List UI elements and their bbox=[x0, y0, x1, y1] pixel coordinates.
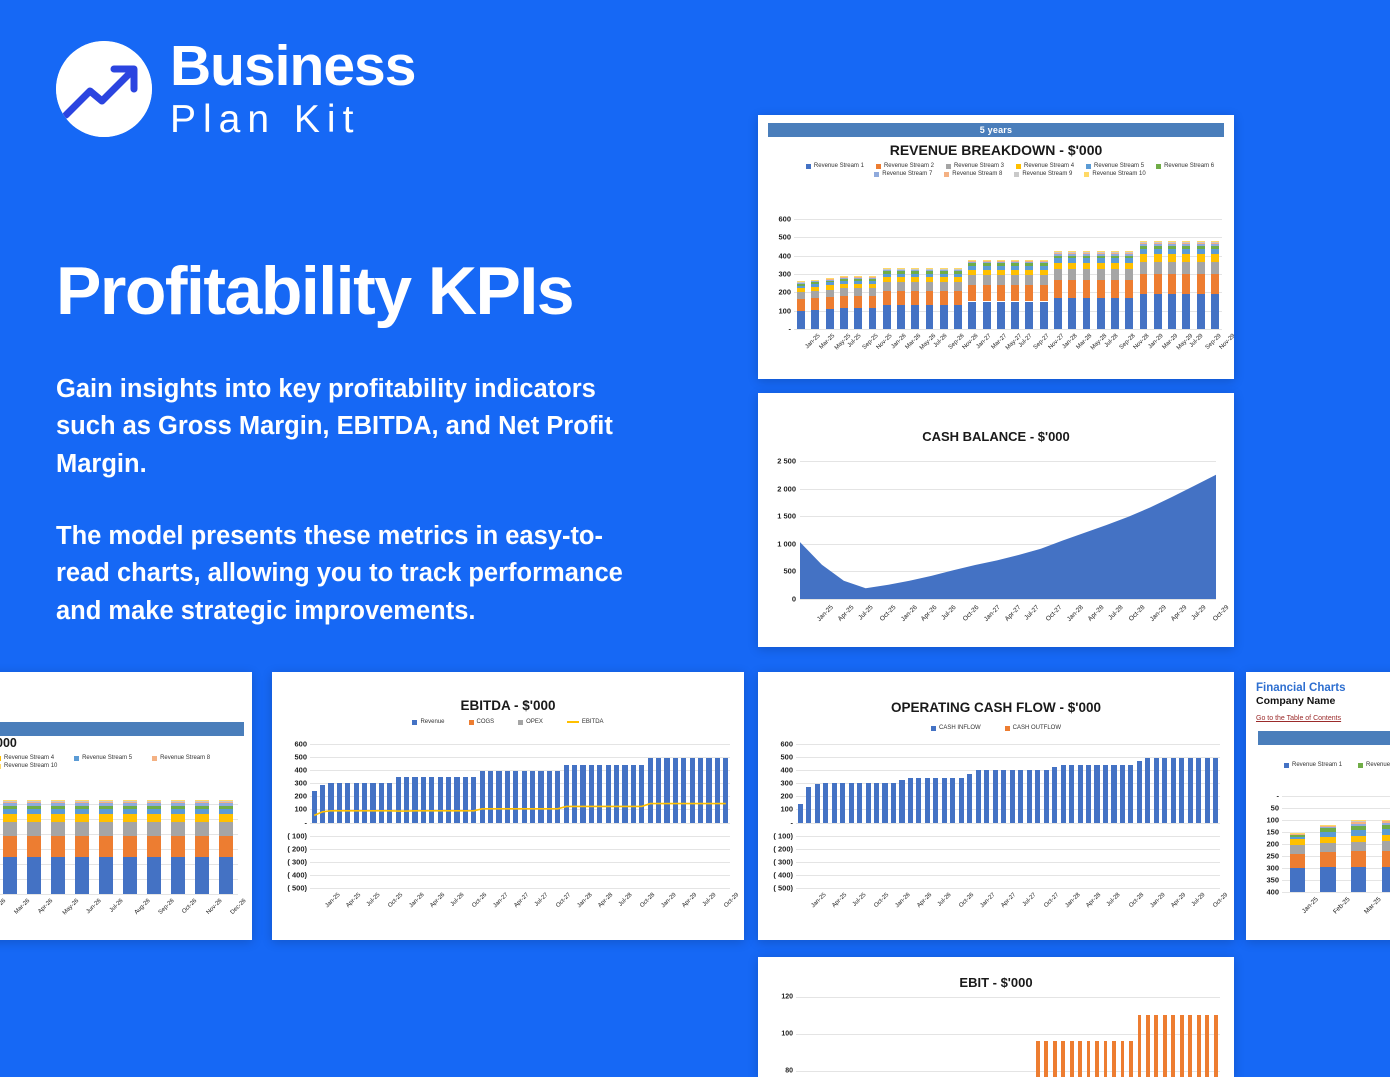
bar-segment[interactable] bbox=[826, 278, 834, 279]
bar-segment[interactable] bbox=[328, 783, 333, 822]
bar-segment[interactable] bbox=[1125, 254, 1133, 256]
bar-segment[interactable] bbox=[1025, 260, 1033, 261]
bar-segment[interactable] bbox=[147, 809, 160, 814]
legend-item[interactable]: Revenue Stream 1 bbox=[1284, 762, 1342, 768]
bar-segment[interactable] bbox=[840, 296, 848, 308]
bar-segment[interactable] bbox=[1205, 758, 1210, 822]
bar-segment[interactable] bbox=[1154, 241, 1162, 242]
bar-segment[interactable] bbox=[1011, 270, 1019, 276]
bar-segment[interactable] bbox=[631, 765, 636, 823]
bar-segment[interactable] bbox=[940, 269, 948, 270]
bar[interactable] bbox=[1129, 1041, 1133, 1077]
bar-segment[interactable] bbox=[911, 305, 919, 329]
bar-segment[interactable] bbox=[1040, 275, 1048, 285]
bar-segment[interactable] bbox=[984, 770, 989, 822]
bar-segment[interactable] bbox=[1010, 770, 1015, 822]
bar-segment[interactable] bbox=[1025, 260, 1033, 261]
bar-segment[interactable] bbox=[639, 765, 644, 823]
bar-segment[interactable] bbox=[1083, 254, 1091, 256]
bar-segment[interactable] bbox=[983, 302, 991, 330]
panel-operating-cash-flow[interactable]: OPERATING CASH FLOW - $'000 CASH INFLOWC… bbox=[758, 672, 1234, 940]
bar-segment[interactable] bbox=[75, 802, 88, 803]
bar-segment[interactable] bbox=[1011, 266, 1019, 270]
bar-segment[interactable] bbox=[908, 778, 913, 823]
bar-segment[interactable] bbox=[1025, 261, 1033, 262]
bar-segment[interactable] bbox=[1054, 258, 1062, 262]
bar-segment[interactable] bbox=[1211, 242, 1219, 243]
bar-segment[interactable] bbox=[715, 758, 720, 822]
bar-segment[interactable] bbox=[123, 803, 136, 805]
bar-segment[interactable] bbox=[1068, 253, 1076, 254]
bar-segment[interactable] bbox=[123, 836, 136, 858]
bar-segment[interactable] bbox=[123, 857, 136, 894]
bar-segment[interactable] bbox=[1011, 260, 1019, 261]
legend-item[interactable]: Revenue Stream 4 bbox=[0, 755, 54, 761]
bar-segment[interactable] bbox=[897, 268, 905, 269]
bar-segment[interactable] bbox=[925, 778, 930, 823]
bar-segment[interactable] bbox=[1154, 242, 1162, 243]
bar-segment[interactable] bbox=[811, 284, 819, 287]
bar-segment[interactable] bbox=[1154, 254, 1162, 261]
bar-segment[interactable] bbox=[1083, 269, 1091, 280]
bar-segment[interactable] bbox=[968, 263, 976, 265]
bar-segment[interactable] bbox=[797, 282, 805, 283]
bar-segment[interactable] bbox=[1040, 261, 1048, 262]
bar-segment[interactable] bbox=[983, 260, 991, 261]
bar-segment[interactable] bbox=[1140, 246, 1148, 249]
legend-item[interactable]: Revenue Stream 4 bbox=[1016, 163, 1074, 169]
bar-segment[interactable] bbox=[1125, 256, 1133, 259]
bar-segment[interactable] bbox=[811, 287, 819, 291]
bar-segment[interactable] bbox=[171, 836, 184, 858]
bar-segment[interactable] bbox=[538, 771, 543, 823]
bar-segment[interactable] bbox=[983, 261, 991, 262]
bar-segment[interactable] bbox=[379, 783, 384, 822]
bar-segment[interactable] bbox=[1320, 843, 1335, 853]
bar-segment[interactable] bbox=[840, 279, 848, 281]
bar-segment[interactable] bbox=[976, 770, 981, 822]
bar-segment[interactable] bbox=[840, 276, 848, 277]
bar[interactable] bbox=[1112, 1041, 1116, 1077]
bar-segment[interactable] bbox=[123, 809, 136, 814]
bar[interactable] bbox=[1121, 1041, 1125, 1077]
bar-segment[interactable] bbox=[1054, 251, 1062, 252]
bar-segment[interactable] bbox=[1290, 845, 1305, 854]
bar[interactable] bbox=[1205, 1015, 1209, 1077]
bar-segment[interactable] bbox=[1382, 823, 1390, 825]
bar-segment[interactable] bbox=[968, 270, 976, 276]
bar-segment[interactable] bbox=[505, 771, 510, 823]
bar-segment[interactable] bbox=[195, 814, 208, 822]
bar-segment[interactable] bbox=[99, 814, 112, 822]
bar-segment[interactable] bbox=[1078, 765, 1083, 823]
bar-segment[interactable] bbox=[897, 270, 905, 271]
bar-segment[interactable] bbox=[1182, 294, 1190, 329]
bar-segment[interactable] bbox=[926, 277, 934, 282]
bar-segment[interactable] bbox=[826, 279, 834, 280]
bar-segment[interactable] bbox=[1068, 256, 1076, 259]
bar[interactable] bbox=[1095, 1041, 1099, 1077]
bar-segment[interactable] bbox=[926, 269, 934, 270]
bar-segment[interactable] bbox=[75, 806, 88, 809]
bar-segment[interactable] bbox=[51, 801, 64, 802]
bar-segment[interactable] bbox=[954, 282, 962, 291]
bar-segment[interactable] bbox=[1111, 252, 1119, 253]
bar-segment[interactable] bbox=[797, 284, 805, 286]
bar-segment[interactable] bbox=[869, 296, 877, 308]
bar[interactable] bbox=[1171, 1015, 1175, 1077]
bar-segment[interactable] bbox=[27, 809, 40, 814]
bar-segment[interactable] bbox=[3, 809, 16, 814]
bar-segment[interactable] bbox=[51, 809, 64, 814]
bar-segment[interactable] bbox=[1211, 246, 1219, 249]
bar-segment[interactable] bbox=[75, 809, 88, 814]
bar-segment[interactable] bbox=[147, 857, 160, 894]
panel-revenue-breakdown-24m[interactable]: 24 months REAKDOWN - $'000 Revenue Strea… bbox=[0, 672, 252, 940]
bar-segment[interactable] bbox=[1140, 241, 1148, 242]
bar-segment[interactable] bbox=[171, 814, 184, 822]
bar-segment[interactable] bbox=[954, 269, 962, 270]
bar-segment[interactable] bbox=[1197, 246, 1205, 249]
bar-segment[interactable] bbox=[983, 262, 991, 264]
bar-segment[interactable] bbox=[897, 269, 905, 270]
bar-segment[interactable] bbox=[883, 282, 891, 291]
bar-segment[interactable] bbox=[387, 783, 392, 822]
bar-segment[interactable] bbox=[1197, 294, 1205, 329]
bar-segment[interactable] bbox=[811, 282, 819, 284]
bar-segment[interactable] bbox=[954, 291, 962, 305]
bar-segment[interactable] bbox=[1197, 262, 1205, 274]
bar-segment[interactable] bbox=[75, 836, 88, 858]
bar-segment[interactable] bbox=[1125, 280, 1133, 298]
bar-segment[interactable] bbox=[1094, 765, 1099, 823]
bar[interactable] bbox=[1214, 1015, 1218, 1077]
bar-segment[interactable] bbox=[815, 784, 820, 823]
bar-segment[interactable] bbox=[171, 801, 184, 802]
bar-segment[interactable] bbox=[1351, 826, 1366, 830]
legend-item[interactable]: Revenue Stream 1 bbox=[806, 163, 864, 169]
bar-segment[interactable] bbox=[940, 270, 948, 271]
bar-segment[interactable] bbox=[1097, 298, 1105, 329]
bar-segment[interactable] bbox=[1351, 867, 1366, 892]
bar-segment[interactable] bbox=[195, 802, 208, 803]
bar-segment[interactable] bbox=[1086, 765, 1091, 823]
bar-segment[interactable] bbox=[1052, 767, 1057, 823]
bar-segment[interactable] bbox=[1025, 262, 1033, 264]
bar-segment[interactable] bbox=[1097, 252, 1105, 253]
bar-segment[interactable] bbox=[883, 291, 891, 305]
bar-segment[interactable] bbox=[99, 800, 112, 801]
bar-segment[interactable] bbox=[883, 274, 891, 277]
bar-segment[interactable] bbox=[983, 270, 991, 276]
bar-segment[interactable] bbox=[1083, 256, 1091, 259]
bar-segment[interactable] bbox=[171, 802, 184, 803]
bar-segment[interactable] bbox=[1351, 821, 1366, 822]
bar-segment[interactable] bbox=[854, 281, 862, 284]
bar-segment[interactable] bbox=[648, 758, 653, 822]
bar-segment[interactable] bbox=[954, 268, 962, 269]
bar-segment[interactable] bbox=[1011, 302, 1019, 330]
bar-segment[interactable] bbox=[27, 803, 40, 805]
bar-segment[interactable] bbox=[51, 800, 64, 801]
bar-segment[interactable] bbox=[854, 277, 862, 278]
bar-segment[interactable] bbox=[496, 771, 501, 823]
bar-segment[interactable] bbox=[911, 269, 919, 270]
bar-segment[interactable] bbox=[1068, 269, 1076, 280]
bar-segment[interactable] bbox=[857, 783, 862, 823]
bar-segment[interactable] bbox=[1140, 274, 1148, 294]
bar-segment[interactable] bbox=[1211, 274, 1219, 294]
bar-segment[interactable] bbox=[883, 269, 891, 270]
bar-segment[interactable] bbox=[51, 822, 64, 836]
legend-item[interactable]: Revenue Stream 10 bbox=[0, 763, 57, 769]
bar-segment[interactable] bbox=[690, 758, 695, 822]
panel-ebit[interactable]: EBIT - $'000 12010080 bbox=[758, 957, 1234, 1077]
legend-item[interactable]: Revenue Stream 7 bbox=[874, 171, 932, 177]
bar-segment[interactable] bbox=[438, 777, 443, 823]
bar-segment[interactable] bbox=[950, 778, 955, 823]
bar-segment[interactable] bbox=[916, 778, 921, 823]
bar-segment[interactable] bbox=[1054, 280, 1062, 298]
bar-segment[interactable] bbox=[1154, 243, 1162, 244]
bar-segment[interactable] bbox=[1211, 243, 1219, 244]
legend-item[interactable]: CASH INFLOW bbox=[931, 725, 981, 731]
bar-segment[interactable] bbox=[869, 288, 877, 296]
bar-segment[interactable] bbox=[1025, 285, 1033, 301]
bar-segment[interactable] bbox=[1054, 269, 1062, 280]
bar-segment[interactable] bbox=[1154, 274, 1162, 294]
bar-segment[interactable] bbox=[840, 288, 848, 296]
bar-segment[interactable] bbox=[1125, 253, 1133, 254]
bar[interactable] bbox=[1154, 1015, 1158, 1077]
legend-item[interactable]: Revenue bbox=[412, 719, 444, 725]
bar-segment[interactable] bbox=[1025, 270, 1033, 276]
bar-segment[interactable] bbox=[27, 800, 40, 801]
bar-segment[interactable] bbox=[1351, 851, 1366, 866]
bar-segment[interactable] bbox=[1097, 280, 1105, 298]
bar-segment[interactable] bbox=[27, 806, 40, 809]
bar-segment[interactable] bbox=[219, 809, 232, 814]
bar-segment[interactable] bbox=[681, 758, 686, 822]
bar-segment[interactable] bbox=[1054, 256, 1062, 259]
bar-segment[interactable] bbox=[354, 783, 359, 822]
bar-segment[interactable] bbox=[589, 765, 594, 823]
bar-segment[interactable] bbox=[1011, 262, 1019, 264]
bar-segment[interactable] bbox=[854, 288, 862, 296]
bar-segment[interactable] bbox=[1040, 262, 1048, 264]
bar-segment[interactable] bbox=[51, 836, 64, 858]
bar-segment[interactable] bbox=[1125, 251, 1133, 252]
bar-segment[interactable] bbox=[1197, 244, 1205, 246]
bar-segment[interactable] bbox=[1168, 243, 1176, 244]
bar-segment[interactable] bbox=[854, 276, 862, 277]
bar-segment[interactable] bbox=[1083, 263, 1091, 270]
bar-segment[interactable] bbox=[897, 291, 905, 305]
bar-segment[interactable] bbox=[1027, 770, 1032, 822]
bar-segment[interactable] bbox=[99, 806, 112, 809]
bar-segment[interactable] bbox=[968, 302, 976, 330]
bar-segment[interactable] bbox=[99, 801, 112, 802]
bar-segment[interactable] bbox=[926, 270, 934, 271]
bar-segment[interactable] bbox=[171, 822, 184, 836]
bar-segment[interactable] bbox=[1068, 254, 1076, 256]
bar-segment[interactable] bbox=[840, 278, 848, 279]
bar-segment[interactable] bbox=[1382, 841, 1390, 851]
bar-segment[interactable] bbox=[926, 291, 934, 305]
bar-segment[interactable] bbox=[522, 771, 527, 823]
bar-segment[interactable] bbox=[75, 801, 88, 802]
bar-segment[interactable] bbox=[664, 758, 669, 822]
bar-segment[interactable] bbox=[1103, 765, 1108, 823]
bar-segment[interactable] bbox=[797, 286, 805, 289]
bar[interactable] bbox=[1138, 1015, 1142, 1077]
bar[interactable] bbox=[1146, 1015, 1150, 1077]
bar-segment[interactable] bbox=[580, 765, 585, 823]
bar-segment[interactable] bbox=[1083, 251, 1091, 252]
bar-segment[interactable] bbox=[869, 276, 877, 277]
bar-segment[interactable] bbox=[1054, 254, 1062, 256]
bar-segment[interactable] bbox=[1182, 274, 1190, 294]
bar-segment[interactable] bbox=[75, 803, 88, 805]
bar-segment[interactable] bbox=[3, 801, 16, 802]
bar-segment[interactable] bbox=[1351, 822, 1366, 824]
bar[interactable] bbox=[1036, 1041, 1040, 1077]
bar-segment[interactable] bbox=[897, 277, 905, 282]
bar[interactable] bbox=[1163, 1015, 1167, 1077]
bar-segment[interactable] bbox=[723, 758, 728, 822]
bar-segment[interactable] bbox=[968, 260, 976, 261]
bar-segment[interactable] bbox=[911, 291, 919, 305]
bar-segment[interactable] bbox=[1168, 242, 1176, 243]
bar-segment[interactable] bbox=[1083, 252, 1091, 253]
bar-segment[interactable] bbox=[1168, 244, 1176, 246]
bar-segment[interactable] bbox=[911, 270, 919, 271]
bar-segment[interactable] bbox=[911, 274, 919, 277]
bar-segment[interactable] bbox=[673, 758, 678, 822]
bar-segment[interactable] bbox=[171, 857, 184, 894]
bar-segment[interactable] bbox=[883, 269, 891, 270]
bar-segment[interactable] bbox=[1068, 280, 1076, 298]
bar-segment[interactable] bbox=[147, 801, 160, 802]
bar-segment[interactable] bbox=[849, 783, 854, 823]
bar-segment[interactable] bbox=[312, 791, 317, 822]
bar-segment[interactable] bbox=[1290, 834, 1305, 835]
bar-segment[interactable] bbox=[869, 284, 877, 289]
bar-segment[interactable] bbox=[1011, 285, 1019, 301]
bar-segment[interactable] bbox=[547, 771, 552, 823]
bar-segment[interactable] bbox=[1125, 269, 1133, 280]
bar-segment[interactable] bbox=[911, 269, 919, 270]
bar-segment[interactable] bbox=[404, 777, 409, 822]
legend-item[interactable]: Revenue Stream 8 bbox=[152, 755, 210, 761]
bar-segment[interactable] bbox=[320, 785, 325, 822]
bar-segment[interactable] bbox=[27, 857, 40, 894]
bar-segment[interactable] bbox=[1018, 770, 1023, 822]
bar-segment[interactable] bbox=[3, 857, 16, 894]
bar-segment[interactable] bbox=[1140, 262, 1148, 274]
bar-segment[interactable] bbox=[811, 280, 819, 281]
bar-segment[interactable] bbox=[345, 783, 350, 822]
bar-segment[interactable] bbox=[1182, 244, 1190, 246]
bar-segment[interactable] bbox=[1168, 254, 1176, 261]
bar-segment[interactable] bbox=[147, 814, 160, 822]
bar-segment[interactable] bbox=[147, 822, 160, 836]
bar-segment[interactable] bbox=[1382, 820, 1390, 821]
bar-segment[interactable] bbox=[997, 260, 1005, 261]
bar-segment[interactable] bbox=[1025, 263, 1033, 265]
bar-segment[interactable] bbox=[614, 765, 619, 823]
bar-segment[interactable] bbox=[3, 814, 16, 822]
bar-segment[interactable] bbox=[869, 279, 877, 281]
bar-segment[interactable] bbox=[983, 266, 991, 270]
bar-segment[interactable] bbox=[99, 836, 112, 858]
bar-segment[interactable] bbox=[123, 814, 136, 822]
bar-segment[interactable] bbox=[147, 800, 160, 801]
bar-segment[interactable] bbox=[797, 299, 805, 310]
legend-item[interactable]: Revenue Stream 6 bbox=[1358, 762, 1390, 768]
bar-segment[interactable] bbox=[27, 802, 40, 803]
panel-cash-balance[interactable]: CASH BALANCE - $'000 2 5002 0001 5001 00… bbox=[758, 393, 1234, 647]
bar-segment[interactable] bbox=[1382, 825, 1390, 829]
bar-segment[interactable] bbox=[926, 282, 934, 291]
bar-segment[interactable] bbox=[1111, 251, 1119, 252]
bar-segment[interactable] bbox=[1197, 243, 1205, 244]
bar-segment[interactable] bbox=[797, 282, 805, 283]
bar-segment[interactable] bbox=[1154, 246, 1162, 249]
bar-segment[interactable] bbox=[891, 783, 896, 823]
bar-segment[interactable] bbox=[412, 777, 417, 823]
bar[interactable] bbox=[1104, 1041, 1108, 1077]
bar-segment[interactable] bbox=[1097, 269, 1105, 280]
bar-segment[interactable] bbox=[1140, 242, 1148, 243]
bar-segment[interactable] bbox=[51, 802, 64, 803]
bar-segment[interactable] bbox=[826, 297, 834, 309]
bar-segment[interactable] bbox=[1120, 765, 1125, 823]
bar-segment[interactable] bbox=[883, 305, 891, 329]
bar-segment[interactable] bbox=[826, 285, 834, 289]
bar-segment[interactable] bbox=[869, 308, 877, 329]
bar-segment[interactable] bbox=[882, 783, 887, 823]
bar-segment[interactable] bbox=[1290, 835, 1305, 836]
bar-segment[interactable] bbox=[51, 857, 64, 894]
bar-segment[interactable] bbox=[1140, 254, 1148, 261]
bar-segment[interactable] bbox=[997, 260, 1005, 261]
bar-segment[interactable] bbox=[869, 277, 877, 278]
bar-segment[interactable] bbox=[362, 783, 367, 822]
legend-item[interactable]: Revenue Stream 8 bbox=[944, 171, 1002, 177]
bar-segment[interactable] bbox=[1290, 837, 1305, 840]
bar-segment[interactable] bbox=[1068, 252, 1076, 253]
bar-segment[interactable] bbox=[1182, 249, 1190, 254]
bar-segment[interactable] bbox=[1197, 254, 1205, 261]
bar-segment[interactable] bbox=[811, 281, 819, 282]
bar-segment[interactable] bbox=[171, 809, 184, 814]
bar-segment[interactable] bbox=[1097, 263, 1105, 270]
bar-segment[interactable] bbox=[75, 822, 88, 836]
bar-segment[interactable] bbox=[854, 284, 862, 289]
bar-segment[interactable] bbox=[1111, 280, 1119, 298]
bar-segment[interactable] bbox=[997, 275, 1005, 285]
bar-segment[interactable] bbox=[1011, 260, 1019, 261]
bar-segment[interactable] bbox=[1128, 765, 1133, 823]
bar-segment[interactable] bbox=[1097, 251, 1105, 252]
bar-segment[interactable] bbox=[27, 801, 40, 802]
bar-segment[interactable] bbox=[954, 271, 962, 273]
bar-segment[interactable] bbox=[1213, 758, 1218, 822]
bar-segment[interactable] bbox=[940, 268, 948, 269]
bar-segment[interactable] bbox=[99, 857, 112, 894]
bar-segment[interactable] bbox=[1140, 243, 1148, 244]
